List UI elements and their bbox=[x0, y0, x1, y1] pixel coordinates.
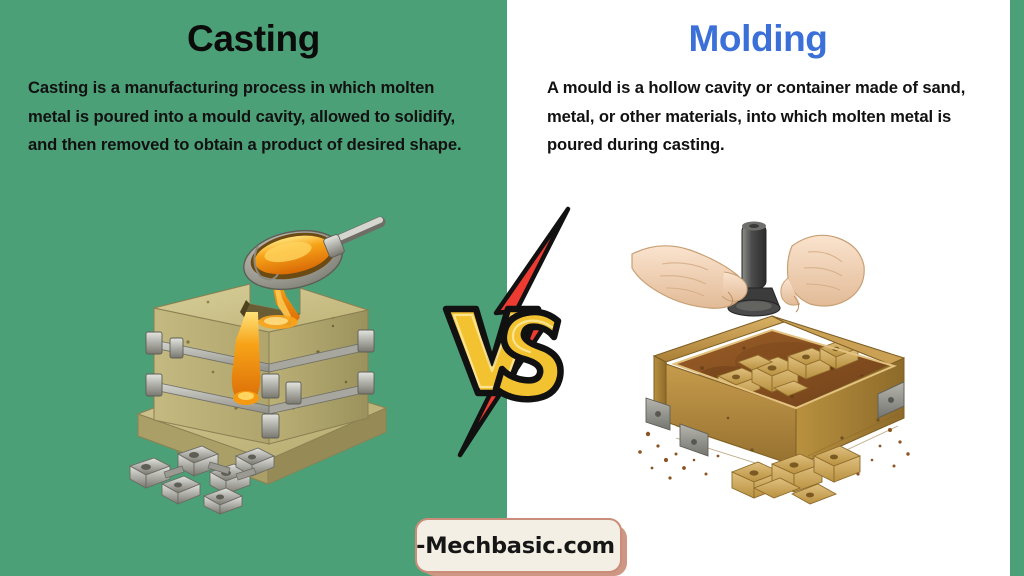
right-hand bbox=[781, 235, 864, 312]
finished-metal-castings bbox=[130, 446, 274, 514]
molding-title: Molding bbox=[507, 20, 1009, 59]
molding-description: A mould is a hollow cavity or container … bbox=[547, 74, 1009, 160]
casting-process-illustration bbox=[118, 222, 408, 514]
versus-badge bbox=[440, 205, 590, 460]
watermark-text: -Mechbasic.com bbox=[416, 533, 615, 559]
infographic-canvas: Casting Casting is a manufacturing proce… bbox=[0, 0, 1024, 576]
casting-description: Casting is a manufacturing process in wh… bbox=[28, 74, 480, 160]
right-edge-accent-stripe bbox=[1010, 0, 1024, 576]
molding-process-illustration bbox=[632, 216, 924, 516]
watermark-badge: -Mechbasic.com bbox=[415, 518, 627, 576]
casting-title: Casting bbox=[0, 20, 507, 59]
pouring-ladle bbox=[238, 220, 380, 298]
watermark-box: -Mechbasic.com bbox=[415, 518, 622, 573]
versus-letters bbox=[446, 309, 561, 399]
left-hand bbox=[632, 246, 747, 308]
